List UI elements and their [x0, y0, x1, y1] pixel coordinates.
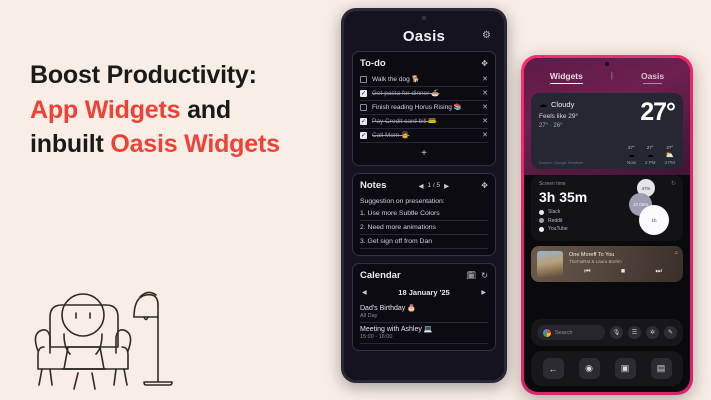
headline-line-1: Boost Productivity:: [30, 58, 340, 93]
refresh-icon[interactable]: ↻: [671, 180, 676, 187]
calendar-event[interactable]: Meeting with Ashley 💻 15:00 - 16:00: [360, 323, 488, 344]
armchair-illustration: [28, 255, 178, 395]
legend-label: YouTube: [548, 226, 568, 232]
headline-plain-1: and: [180, 96, 231, 124]
tab-oasis[interactable]: Oasis: [641, 71, 664, 84]
gear-icon[interactable]: ⚙: [482, 30, 491, 41]
app-dock: ← ◉ ▣ ▤: [531, 351, 683, 386]
next-day-icon[interactable]: ▶: [481, 289, 486, 296]
todo-item[interactable]: ✓ Pay Credit card bill 💳 ✕: [360, 115, 488, 129]
todo-title: To-do: [360, 58, 386, 69]
todo-label: Walk the dog 🐕: [372, 75, 477, 83]
left-phone-oasis-app: Oasis ⚙ To-do ✥ Walk the dog 🐕 ✕ ✓ Get p…: [341, 8, 507, 383]
legend-dot: [539, 218, 544, 223]
forecast-time: 3 PM: [664, 160, 675, 165]
close-icon[interactable]: ✕: [482, 103, 488, 111]
todo-checkbox[interactable]: ✓: [360, 118, 367, 125]
add-todo-button[interactable]: +: [360, 143, 488, 159]
todo-label: Get pasta for dinner 🍝: [372, 89, 477, 97]
refresh-icon[interactable]: ↻: [481, 272, 488, 280]
recents-icon[interactable]: ▣: [615, 358, 636, 379]
lens-icon[interactable]: ☰: [628, 326, 641, 339]
media-player-widget[interactable]: One Moreff To You TheFatRat & Laura Breh…: [531, 246, 683, 282]
forecast-entry: 27° ☁ 2 PM: [645, 145, 656, 165]
notes-page-indicator: 1 / 5: [428, 182, 441, 189]
notes-widget[interactable]: Notes ◀ 1 / 5 ▶ ✥ Suggestion on presenta…: [352, 173, 496, 256]
todo-checkbox[interactable]: ✓: [360, 132, 367, 139]
calendar-widget[interactable]: Calendar 🗓 ↻ ◀ 18 January '25 ▶ Dad's Bi…: [352, 263, 496, 351]
headline-accent-1: App Widgets: [30, 96, 180, 124]
next-icon[interactable]: ⏭: [655, 268, 661, 276]
stop-icon[interactable]: ■: [621, 268, 625, 276]
notes-title: Notes: [360, 180, 386, 191]
legend-dot: [539, 210, 544, 215]
note-line: 2. Need more animations: [360, 221, 488, 235]
oasis-header: Oasis ⚙: [349, 21, 499, 51]
screen-time-widget[interactable]: Screen time 3h 35m Slack Reddit YouTube …: [531, 175, 683, 241]
calendar-date: 18 January '25: [398, 288, 449, 297]
launcher-screen: Widgets | Oasis ☁ Cloudy Feels like 29° …: [524, 58, 690, 392]
weather-widget[interactable]: ☁ Cloudy Feels like 29° 27° · 26° 27° 27…: [531, 93, 683, 169]
legend-label: Slack: [548, 209, 560, 215]
headline-line-3: inbuilt Oasis Widgets: [30, 127, 340, 162]
legend-dot: [539, 227, 544, 232]
back-icon[interactable]: ←: [543, 358, 564, 379]
apps-icon[interactable]: ▤: [651, 358, 672, 379]
close-icon[interactable]: ✕: [482, 131, 488, 139]
search-placeholder: Search: [555, 330, 572, 336]
cast-icon[interactable]: ♫: [674, 250, 678, 256]
home-icon[interactable]: ◉: [579, 358, 600, 379]
todo-item[interactable]: Finish reading Horus Rising 📚 ✕: [360, 101, 488, 115]
close-icon[interactable]: ✕: [482, 75, 488, 83]
search-bar-row: Search 🎙 ☰ ✲ ✎: [531, 319, 683, 346]
cloud-icon: ☁: [627, 151, 636, 159]
calendar-actions: 🗓 ↻: [466, 272, 488, 280]
previous-icon[interactable]: ⏮: [584, 268, 590, 276]
event-time: All Day: [360, 313, 488, 319]
todo-header: To-do ✥: [360, 58, 488, 69]
tab-widgets[interactable]: Widgets: [550, 71, 583, 84]
calendar-header: Calendar 🗓 ↻: [360, 270, 488, 281]
legend-label: Reddit: [548, 218, 562, 224]
prev-note-icon[interactable]: ◀: [419, 182, 424, 190]
tab-separator: |: [611, 71, 613, 84]
headline-plain-2: inbuilt: [30, 130, 110, 158]
calendar-title: Calendar: [360, 270, 401, 281]
prev-day-icon[interactable]: ◀: [362, 289, 367, 296]
calendar-add-icon[interactable]: 🗓: [466, 272, 476, 280]
note-line: 1. Use more Subtle Colors: [360, 207, 488, 221]
edit-icon[interactable]: ✎: [664, 326, 677, 339]
close-icon[interactable]: ✕: [482, 117, 488, 125]
forecast-entry: 27° ☁ Now: [627, 145, 636, 165]
cloud-icon: ☁: [645, 151, 656, 159]
forecast-time: Now: [627, 160, 636, 165]
calendar-nav: ◀ 18 January '25 ▶: [360, 285, 488, 302]
note-line: 3. Get sign off from Dan: [360, 235, 488, 249]
forecast-time: 2 PM: [645, 160, 656, 165]
expand-icon[interactable]: ✥: [481, 182, 488, 190]
notes-pager: ◀ 1 / 5 ▶: [419, 182, 450, 190]
sun-cloud-icon: ⛅: [664, 151, 675, 159]
assistant-icon[interactable]: ✲: [646, 326, 659, 339]
widget-tabs: Widgets | Oasis: [524, 62, 690, 91]
spacer: [524, 288, 690, 320]
todo-item[interactable]: ✓ Call Mom 👩 ✕: [360, 129, 488, 143]
cloud-icon: ☁: [539, 100, 547, 109]
oasis-app-title: Oasis: [403, 28, 445, 45]
forecast-entry: 27° ⛅ 3 PM: [664, 145, 675, 165]
launcher-top-section: Widgets | Oasis ☁ Cloudy Feels like 29° …: [524, 58, 690, 175]
weather-condition: Cloudy: [551, 100, 574, 109]
todo-checkbox[interactable]: ✓: [360, 90, 367, 97]
weather-temperature: 27°: [640, 98, 675, 127]
todo-list: Walk the dog 🐕 ✕ ✓ Get pasta for dinner …: [360, 73, 488, 143]
album-art: [537, 251, 563, 277]
mic-icon[interactable]: 🎙: [610, 326, 623, 339]
right-phone-launcher: Widgets | Oasis ☁ Cloudy Feels like 29° …: [521, 55, 693, 395]
forecast-temp: 27°: [664, 145, 675, 150]
todo-label: Finish reading Horus Rising 📚: [372, 103, 477, 111]
todo-widget[interactable]: To-do ✥ Walk the dog 🐕 ✕ ✓ Get pasta for…: [352, 51, 496, 166]
notes-header: Notes ◀ 1 / 5 ▶ ✥: [360, 180, 488, 191]
media-controls: ⏮ ■ ⏭: [569, 268, 677, 276]
event-title: Meeting with Ashley 💻: [360, 325, 488, 333]
weather-source: Source: Google Weather: [539, 160, 583, 165]
google-icon: [543, 329, 551, 337]
event-time: 15:00 - 16:00: [360, 334, 488, 340]
forecast-temp: 27°: [627, 145, 636, 150]
headline-line-2: App Widgets and: [30, 93, 340, 128]
track-artist: TheFatRat & Laura Brehm: [569, 259, 677, 264]
todo-label: Call Mom 👩: [372, 131, 477, 139]
headline-accent-2: Oasis Widgets: [110, 130, 279, 158]
search-input[interactable]: Search: [537, 325, 605, 340]
todo-checkbox[interactable]: [360, 76, 367, 83]
page-title: Boost Productivity: App Widgets and inbu…: [30, 58, 340, 162]
weather-forecast: 27° ☁ Now 27° ☁ 2 PM 27° ⛅ 3 PM: [627, 145, 675, 165]
forecast-temp: 27°: [645, 145, 656, 150]
note-heading: Suggestion on presentation:: [360, 195, 488, 207]
todo-checkbox[interactable]: [360, 104, 367, 111]
bubble-youtube: 1h: [639, 205, 669, 235]
todo-item[interactable]: ✓ Get pasta for dinner 🍝 ✕: [360, 87, 488, 101]
media-info: One Moreff To You TheFatRat & Laura Breh…: [569, 252, 677, 276]
todo-item[interactable]: Walk the dog 🐕 ✕: [360, 73, 488, 87]
calendar-event[interactable]: Dad's Birthday 🎂 All Day: [360, 302, 488, 323]
close-icon[interactable]: ✕: [482, 89, 488, 97]
todo-label: Pay Credit card bill 💳: [372, 117, 477, 125]
next-note-icon[interactable]: ▶: [444, 182, 449, 190]
screen-time-bubble-chart: 47m 1h 05m 1h: [621, 179, 677, 235]
track-title: One Moreff To You: [569, 252, 677, 258]
event-title: Dad's Birthday 🎂: [360, 304, 488, 312]
expand-icon[interactable]: ✥: [481, 60, 488, 68]
